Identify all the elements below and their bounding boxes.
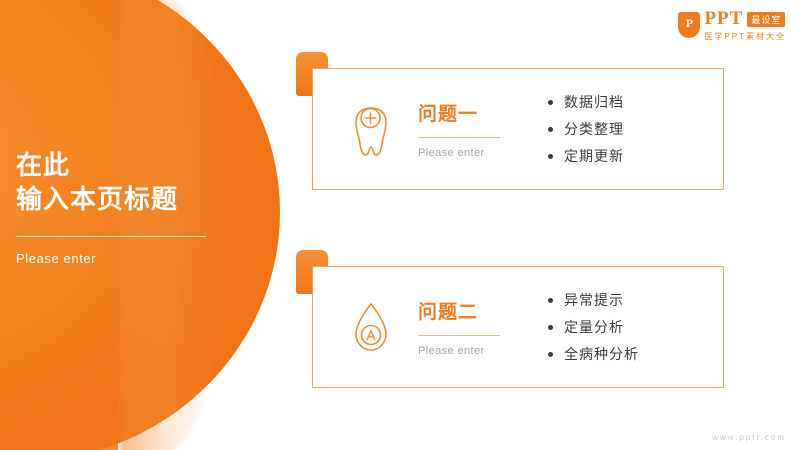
logo-brand: PPT bbox=[704, 8, 743, 30]
bullet-dot-icon bbox=[548, 100, 553, 105]
card-1-bullet-2: 分类整理 bbox=[564, 119, 624, 139]
bullet-dot-icon bbox=[548, 352, 553, 357]
logo-text: PPT 最设室 医学PPT素材大全 bbox=[704, 8, 786, 42]
page-title-line1: 在此 bbox=[16, 148, 266, 182]
card-1-content: 问题一 Please enter 数据归档 分类整理 定期更新 bbox=[330, 68, 624, 190]
footer-url: www.pptr.com bbox=[712, 433, 786, 442]
card-2-bullet-3: 全病种分析 bbox=[564, 344, 639, 364]
card-1-heading-block: 问题一 Please enter bbox=[412, 99, 530, 159]
card-2-heading-block: 问题二 Please enter bbox=[412, 297, 530, 357]
shield-icon: P bbox=[678, 12, 700, 38]
bullet-dot-icon bbox=[548, 127, 553, 132]
logo-brand-row: PPT 最设室 bbox=[704, 8, 786, 30]
page-subtitle: Please enter bbox=[16, 251, 266, 266]
blood-drop-a-icon bbox=[330, 296, 412, 358]
title-divider bbox=[16, 236, 206, 237]
list-item: 异常提示 bbox=[548, 290, 639, 310]
list-item: 定期更新 bbox=[548, 146, 624, 166]
card-2-bullet-2: 定量分析 bbox=[564, 317, 624, 337]
card-1-heading: 问题一 bbox=[418, 99, 530, 126]
card-1-subheading: Please enter bbox=[418, 147, 530, 159]
card-2-subheading: Please enter bbox=[418, 345, 530, 357]
card-1-bullet-1: 数据归档 bbox=[564, 92, 624, 112]
bullet-dot-icon bbox=[548, 325, 553, 330]
bullet-dot-icon bbox=[548, 298, 553, 303]
card-1-bullet-3: 定期更新 bbox=[564, 146, 624, 166]
list-item: 数据归档 bbox=[548, 92, 624, 112]
brand-logo: P PPT 最设室 医学PPT素材大全 bbox=[678, 8, 786, 42]
page-title: 在此 输入本页标题 Please enter bbox=[16, 148, 266, 266]
card-1-bullets: 数据归档 分类整理 定期更新 bbox=[530, 85, 624, 173]
logo-tagline: 医学PPT素材大全 bbox=[704, 31, 786, 42]
list-item: 分类整理 bbox=[548, 119, 624, 139]
card-2-bullets: 异常提示 定量分析 全病种分析 bbox=[530, 283, 639, 371]
card-2-content: 问题二 Please enter 异常提示 定量分析 全病种分析 bbox=[330, 266, 639, 388]
card-2-heading: 问题二 bbox=[418, 297, 530, 324]
card-2-heading-divider bbox=[418, 335, 500, 336]
card-2-bullet-1: 异常提示 bbox=[564, 290, 624, 310]
logo-badge: 最设室 bbox=[747, 12, 785, 27]
slide: 在此 输入本页标题 Please enter P PPT 最设室 医学PPT素材… bbox=[0, 0, 800, 450]
shield-letter: P bbox=[678, 16, 700, 31]
bullet-dot-icon bbox=[548, 154, 553, 159]
page-title-line2: 输入本页标题 bbox=[16, 182, 266, 216]
list-item: 全病种分析 bbox=[548, 344, 639, 364]
card-1-heading-divider bbox=[418, 137, 500, 138]
list-item: 定量分析 bbox=[548, 317, 639, 337]
tooth-plus-icon bbox=[330, 98, 412, 160]
